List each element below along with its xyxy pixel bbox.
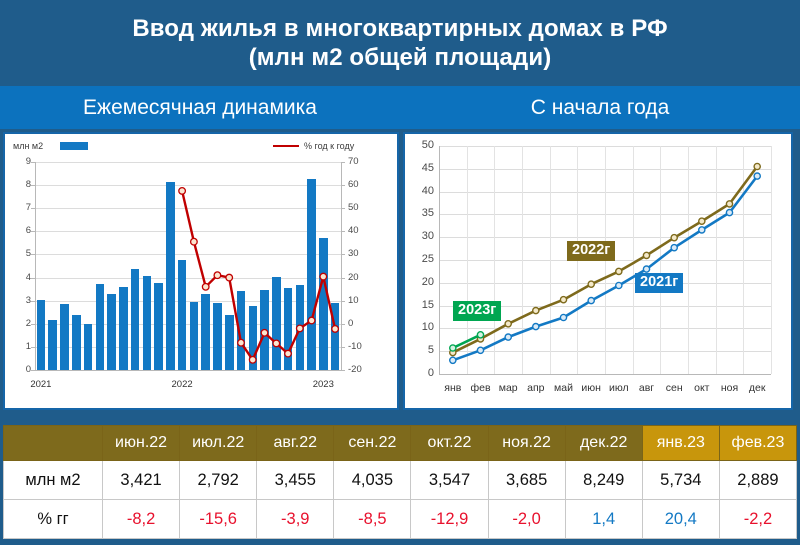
chart-monthly-y2-tick-label: 20 [348,273,374,283]
legend-swatch-line [273,145,299,147]
chart-monthly-y-tick-label: 5 [9,249,31,259]
chart-monthly-y2-tick-mark [341,254,345,255]
chart-cumulative-y-axis [439,146,440,374]
table-cell: 3,547 [411,461,488,500]
chart-cumulative-marker [754,163,760,169]
chart-cumulative-y-tick-label: 15 [411,300,434,311]
summary-table-head: июн.22июл.22авг.22сен.22окт.22ноя.22дек.… [4,426,797,461]
table-row: млн м23,4212,7923,4554,0353,5473,6858,24… [4,461,797,500]
chart-monthly-y2-tick-label: 0 [348,319,374,329]
chart-monthly-dynamics: млн м2 % год к году 0123456789-20-100102… [3,132,399,410]
chart-monthly-plot-area [35,162,341,370]
chart-cumulative-marker [726,210,732,216]
table-cell: 5,734 [642,461,719,500]
chart-monthly-y-tick-label: 9 [9,157,31,167]
chart-cumulative-series-label-2022г: 2022г [567,241,615,261]
table-column-header: дек.22 [565,426,642,461]
table-column-header: авг.22 [257,426,334,461]
chart-monthly-yoy-marker [226,274,233,281]
chart-cumulative-x-tick-label: дек [740,383,774,394]
chart-cumulative-marker [699,218,705,224]
table-column-header: сен.22 [334,426,411,461]
chart-cumulative-ytd: 05101520253035404550янвфевмарапрмайиюнию… [403,132,793,410]
summary-table: июн.22июл.22авг.22сен.22окт.22ноя.22дек.… [3,425,797,539]
chart-monthly-yoy-line [182,191,335,360]
chart-cumulative-marker [699,227,705,233]
chart-monthly-x-group-label: 2023 [301,380,345,390]
chart-monthly-y2-tick-label: 50 [348,203,374,213]
chart-cumulative-vgridline [771,146,772,374]
chart-monthly-yoy-marker [285,350,292,357]
summary-table-body: млн м23,4212,7923,4554,0353,5473,6858,24… [4,461,797,539]
chart-monthly-y2-tick-mark [341,347,345,348]
chart-monthly-yoy-marker [261,330,268,337]
page-title-line-1: Ввод жилья в многоквартирных домах в РФ [132,14,667,43]
charts-row: млн м2 % год к году 0123456789-20-100102… [0,129,800,421]
table-header-row: июн.22июл.22авг.22сен.22окт.22ноя.22дек.… [4,426,797,461]
table-column-header: фев.23 [719,426,796,461]
chart-cumulative-marker [505,321,511,327]
chart-cumulative-y-tick-label: 20 [411,277,434,288]
table-cell: 2,889 [719,461,796,500]
table-column-header: янв.23 [642,426,719,461]
legend-label-yoy: % год к году [304,142,354,151]
chart-cumulative-y-tick-label: 0 [411,368,434,379]
chart-cumulative-line-2021г [453,176,757,360]
table-cell: -15,6 [180,500,257,539]
chart-cumulative-y-tick-label: 10 [411,322,434,333]
chart-monthly-yoy-marker [249,357,256,364]
chart-monthly-y2-tick-label: -20 [348,365,374,375]
table-cell: 4,035 [334,461,411,500]
chart-cumulative-marker [505,334,511,340]
chart-monthly-x-axis [35,370,341,371]
chart-cumulative-y-tick-label: 40 [411,186,434,197]
table-cell: 1,4 [565,500,642,539]
chart-cumulative-y-tick-label: 25 [411,254,434,265]
table-column-header: ноя.22 [488,426,565,461]
chart-cumulative-y-tick-label: 35 [411,208,434,219]
chart-monthly-y2-tick-label: 40 [348,226,374,236]
chart-monthly-y2-tick-label: 30 [348,249,374,259]
chart-monthly-y-tick-label: 4 [9,273,31,283]
chart-cumulative-marker [588,298,594,304]
chart-cumulative-y-tick-label: 5 [411,345,434,356]
chart-cumulative-marker [450,357,456,363]
chart-monthly-y2-tick-mark [341,208,345,209]
chart-monthly-yoy-marker [297,325,304,332]
chart-cumulative-marker [533,308,539,314]
subtitle-band: Ежемесячная динамика С начала года [0,86,800,129]
chart-monthly-yoy-marker [214,272,221,279]
table-cell: -3,9 [257,500,334,539]
chart-monthly-yoy-marker [202,284,209,291]
chart-monthly-y2-tick-mark [341,370,345,371]
chart-monthly-yoy-marker [191,238,198,245]
chart-monthly-y-tick-label: 7 [9,203,31,213]
chart-cumulative-marker [560,314,566,320]
table-cell: -12,9 [411,500,488,539]
table-row-label: млн м2 [4,461,103,500]
chart-monthly-y-tick-label: 1 [9,342,31,352]
chart-cumulative-series-label-2021г: 2021г [635,273,683,293]
chart-monthly-left-axis [35,162,36,370]
table-cell: -8,5 [334,500,411,539]
subtitle-monthly: Ежемесячная динамика [0,96,400,120]
table-cell: 3,421 [103,461,180,500]
chart-cumulative-marker [643,266,649,272]
chart-monthly-y2-tick-label: -10 [348,342,374,352]
chart-monthly-yoy-marker [238,339,245,346]
chart-monthly-right-axis [341,162,342,370]
chart-cumulative-marker [533,324,539,330]
chart-monthly-y-tick-label: 3 [9,296,31,306]
chart-cumulative-marker [754,173,760,179]
chart-cumulative-marker [726,201,732,207]
chart-monthly-yoy-marker [273,340,280,347]
chart-monthly-x-group-label: 2021 [19,380,63,390]
table-cell: 3,685 [488,461,565,500]
chart-cumulative-marker [588,281,594,287]
chart-cumulative-marker [477,347,483,353]
chart-monthly-yoy-marker [308,317,315,324]
table-column-header: июн.22 [103,426,180,461]
chart-monthly-y2-tick-label: 70 [348,157,374,167]
table-row: % гг-8,2-15,6-3,9-8,5-12,9-2,01,420,4-2,… [4,500,797,539]
table-column-header: июл.22 [180,426,257,461]
table-row-label: % гг [4,500,103,539]
chart-cumulative-marker [450,345,456,351]
chart-cumulative-marker [643,252,649,258]
chart-monthly-y-tick-label: 0 [9,365,31,375]
chart-monthly-y-tick-label: 2 [9,319,31,329]
chart-cumulative-marker [616,282,622,288]
table-corner-cell [4,426,103,461]
chart-monthly-yoy-marker [179,188,186,195]
table-column-header: окт.22 [411,426,488,461]
chart-cumulative-x-axis [439,374,771,375]
chart-monthly-x-group-label: 2022 [160,380,204,390]
chart-cumulative-marker [477,332,483,338]
chart-monthly-y-tick-label: 8 [9,180,31,190]
dashboard-root: Ввод жилья в многоквартирных домах в РФ … [0,0,800,545]
chart-monthly-y2-tick-label: 10 [348,296,374,306]
table-cell: 8,249 [565,461,642,500]
chart-cumulative-y-tick-label: 50 [411,140,434,151]
chart-cumulative-y-tick-label: 45 [411,163,434,174]
table-cell: 3,455 [257,461,334,500]
summary-table-wrapper: июн.22июл.22авг.22сен.22окт.22ноя.22дек.… [0,421,800,545]
table-cell: 2,792 [180,461,257,500]
subtitle-cumulative: С начала года [400,96,800,120]
page-title-line-2: (млн м2 общей площади) [249,43,552,72]
chart-cumulative-marker [671,235,677,241]
chart-cumulative-marker [560,297,566,303]
chart-monthly-y2-tick-mark [341,324,345,325]
chart-cumulative-marker [616,268,622,274]
page-title-band: Ввод жилья в многоквартирных домах в РФ … [0,0,800,86]
chart-monthly-y-axis-unit: млн м2 [13,142,43,151]
chart-cumulative-series-label-2023г: 2023г [453,301,501,321]
chart-monthly-y2-tick-mark [341,231,345,232]
table-cell: -2,0 [488,500,565,539]
table-cell: 20,4 [642,500,719,539]
chart-monthly-y2-tick-mark [341,278,345,279]
chart-cumulative-marker [671,245,677,251]
legend-swatch-bars [60,142,88,150]
chart-monthly-yoy-marker [320,273,327,280]
table-cell: -8,2 [103,500,180,539]
chart-monthly-y2-tick-mark [341,301,345,302]
chart-monthly-y2-tick-mark [341,185,345,186]
table-cell: -2,2 [719,500,796,539]
chart-monthly-yoy-marker [332,326,339,333]
chart-cumulative-y-tick-label: 30 [411,231,434,242]
chart-monthly-y-tick-label: 6 [9,226,31,236]
chart-monthly-y2-tick-mark [341,162,345,163]
chart-monthly-y2-tick-label: 60 [348,180,374,190]
